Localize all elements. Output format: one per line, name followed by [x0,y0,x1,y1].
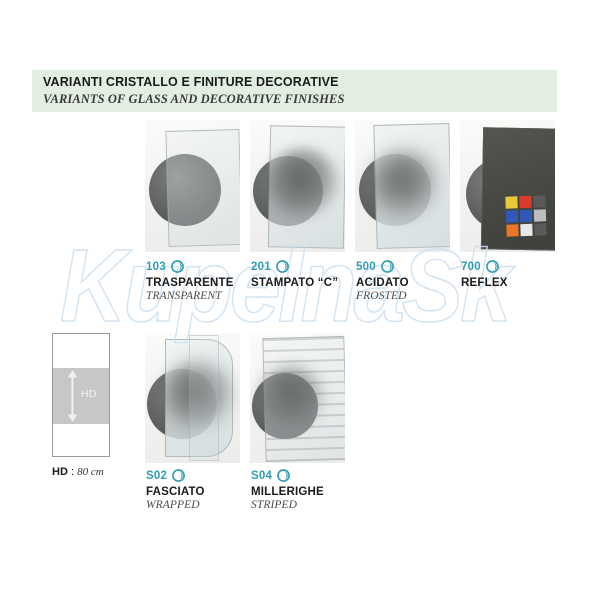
finish-label-reflex: 700 REFLEX [461,259,508,290]
swatch-tile-trasparente[interactable] [145,120,240,252]
finish-name-en: WRAPPED [146,499,205,511]
hd-caption-sep: : [68,466,77,478]
finish-label-fasciato: S02 FASCIATO WRAPPED [146,468,205,511]
page-title: VARIANTI CRISTALLO E FINITURE DECORATIVE [43,75,339,89]
swatch-tile-reflex[interactable] [460,120,555,252]
page-subtitle: VARIANTS OF GLASS AND DECORATIVE FINISHE… [43,92,345,107]
section-header-band: VARIANTI CRISTALLO E FINITURE DECORATIVE… [32,70,557,112]
finish-name-it: FASCIATO [146,486,205,498]
finish-label-stampato-c: 201 STAMPATO “C” [251,259,338,290]
finish-label-millerighe: S04 MILLERIGHE STRIPED [251,468,324,511]
reflex-colour-chip [520,210,532,222]
swatch-tile-stampato-c[interactable] [250,120,345,252]
swatch-tile-fasciato[interactable] [145,333,240,463]
finish-circle-icon [381,260,394,273]
reflex-colour-chip [520,224,532,236]
finish-name-it: TRASPARENTE [146,277,234,289]
diffused-sphere-blob [265,148,340,223]
reflex-colour-chip [505,196,517,208]
finish-label-trasparente: 103 TRASPARENTE TRANSPARENT [146,259,234,302]
reflex-colour-chip [519,196,531,208]
hd-dimension-diagram: HD [52,333,110,457]
finish-code: S02 [146,470,167,482]
hd-caption: HD : 80 cm [52,466,104,478]
glass-pane-striped [262,336,345,462]
hd-band-label: HD [81,388,97,400]
reflex-colour-chip [534,209,546,221]
finish-name-it: REFLEX [461,277,508,289]
finish-circle-icon [486,260,499,273]
finish-circle-icon [171,260,184,273]
finish-circle-icon [172,469,185,482]
hd-caption-key: HD [52,466,68,478]
diffused-sphere-blob [369,150,441,222]
reflex-colour-chip [533,195,545,207]
swatch-tile-millerighe[interactable] [250,333,345,463]
finish-name-it: ACIDATO [356,277,409,289]
finish-code: S04 [251,470,272,482]
finish-code: 700 [461,261,481,273]
finish-code: 201 [251,261,271,273]
finish-name-it: STAMPATO “C” [251,277,338,289]
finish-circle-icon [276,260,289,273]
reflex-colour-chip [506,210,518,222]
hd-caption-value: 80 cm [77,466,104,478]
finish-code: 103 [146,261,166,273]
reflex-colour-chip [506,224,518,236]
reflex-colour-chip [534,223,546,235]
glass-pane-clear [165,129,240,247]
swatch-tile-acidato[interactable] [355,120,450,252]
hd-double-arrow-icon [67,370,78,422]
glass-pane-printed [268,125,345,248]
finish-name-en: TRANSPARENT [146,290,234,302]
finish-name-en: STRIPED [251,499,324,511]
finish-code: 500 [356,261,376,273]
finish-circle-icon [277,469,290,482]
finish-label-acidato: 500 ACIDATO FROSTED [356,259,409,302]
reflex-colour-chips [505,195,546,236]
finish-name-en: FROSTED [356,290,409,302]
glass-pane-frosted [373,123,450,249]
glass-pane-edge [189,335,219,461]
finish-name-it: MILLERIGHE [251,486,324,498]
